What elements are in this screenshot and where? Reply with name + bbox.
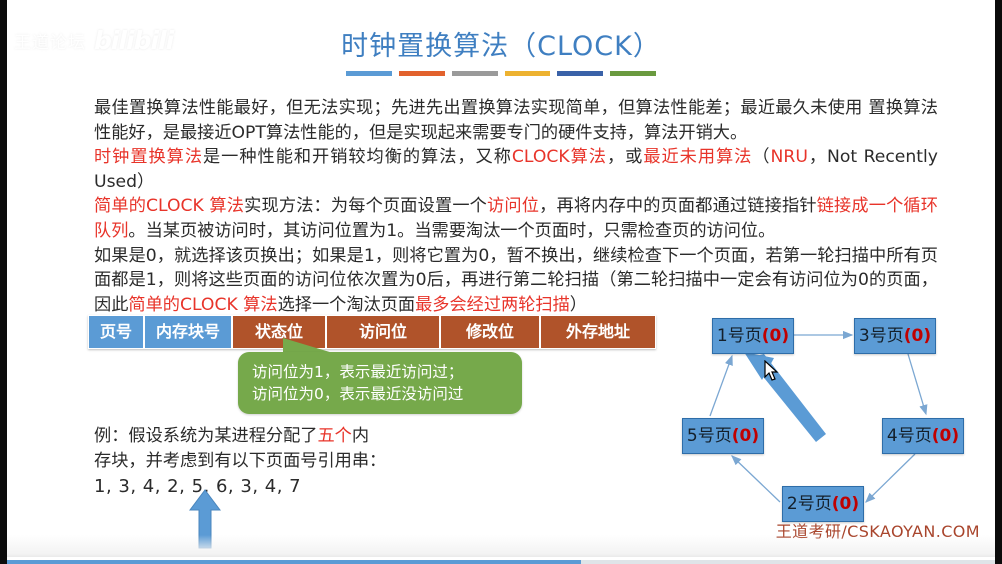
node-3-label: 3号页 [859,326,904,346]
paragraph-definition: 时钟置换算法是一种性能和开销较均衡的算法，又称CLOCK算法，或最近未用算法（N… [94,145,938,194]
node-5-access-bit: (0) [732,426,759,446]
rule-seg-4 [505,71,551,76]
queue-node-page2[interactable]: 2号页(0) [782,486,864,522]
term-nru-cn: 最近未用算法 [643,147,752,167]
circular-queue-diagram: 1号页(0) 3号页(0) 4号页(0) 2号页(0) 5号页(0) [660,306,1002,536]
term-simple-clock-1: 简单的CLOCK 算法 [94,196,244,216]
example-text-1: 例：假设系统为某进程分配了 [94,426,317,446]
link-3-to-4 [908,354,926,414]
example-line-1: 例：假设系统为某进程分配了五个内 [94,424,494,449]
term-simple-clock-2: 简单的CLOCK 算法 [128,295,277,315]
player-bar[interactable] [0,557,1002,564]
progress-track[interactable] [0,560,1002,564]
method-text-2: ，再将内存中的页面都通过链接指针 [539,196,817,216]
def-text-2: ，或 [607,147,643,167]
table-cell-page-number: 页号 [89,316,145,348]
method-text-1: 实现方法：为每个页面设置一个 [244,196,487,216]
table-cell-disk-address: 外存地址 [541,316,655,348]
scan-text-2: 选择一个淘汰页面 [278,295,416,315]
table-cell-access-bit: 访问位 [327,316,441,348]
body-text: 最佳置换算法性能最好，但无法实现；先进先出置换算法实现简单，但算法性能差；最近最… [94,96,938,317]
example-five-blocks: 五个 [317,426,351,446]
term-two-scans: 最多会经过两轮扫描 [415,295,570,315]
access-bit-callout: 访问位为1，表示最近访问过； 访问位为0，表示最近没访问过 [238,352,522,414]
def-text-1: 是一种性能和开销较均衡的算法，又称 [203,147,512,167]
slide-canvas: 王道论坛 bilibili 时钟置换算法（CLOCK） 最佳置换算法性能最好，但… [0,0,1002,564]
node-1-access-bit: (0) [762,326,789,346]
example-text-2: 内 [352,426,369,446]
rule-seg-1 [346,71,392,76]
node-2-label: 2号页 [787,494,832,514]
node-4-access-bit: (0) [932,426,959,446]
title-block: 时钟置换算法（CLOCK） [0,24,1002,76]
title-underline-rule [346,71,656,76]
intro-line-1: 最佳置换算法性能最好，但无法实现；先进先出置换算法实现简单，但算法性能差；最近最… [94,98,863,118]
term-clock-alias: CLOCK算法 [512,147,607,167]
paragraph-method: 简单的CLOCK 算法实现方法：为每个页面设置一个访问位，再将内存中的页面都通过… [94,194,938,243]
example-block: 例：假设系统为某进程分配了五个内 存块，并考虑到有以下页面号引用串： 1, 3,… [94,424,494,499]
letterbox-right [995,0,1002,564]
table-cell-frame-number: 内存块号 [145,316,233,348]
link-2-to-5 [732,456,780,502]
node-4-label: 4号页 [887,426,932,446]
term-access-bit: 访问位 [487,196,539,216]
progress-fill [0,560,581,564]
method-text-3: 。当某页被访问时，其访问位置为1。当需要淘汰一个页面时，只需检查页的访问位。 [128,221,775,241]
rule-seg-3 [452,71,498,76]
rule-seg-2 [399,71,445,76]
letterbox-left [0,0,7,564]
def-text-3: （ [752,147,770,167]
page-table-entry: 页号 内存块号 状态位 访问位 修改位 外存地址 [88,315,656,349]
bottom-fade [0,535,1002,557]
callout-line-2: 访问位为0，表示最近没访问过 [252,383,522,405]
link-4-to-2 [866,454,915,502]
paragraph-intro: 最佳置换算法性能最好，但无法实现；先进先出置换算法实现简单，但算法性能差；最近最… [94,96,938,145]
rule-seg-5 [557,71,603,76]
example-line-2: 存块，并考虑到有以下页面号引用串： [94,449,494,474]
term-nru-abbr: NRU [771,147,808,167]
table-cell-modify-bit: 修改位 [441,316,541,348]
queue-node-page4[interactable]: 4号页(0) [882,418,964,454]
node-2-access-bit: (0) [832,494,859,514]
queue-node-page5[interactable]: 5号页(0) [682,418,764,454]
callout-line-1: 访问位为1，表示最近访问过； [252,361,522,383]
queue-node-page1[interactable]: 1号页(0) [712,318,794,354]
queue-node-page3[interactable]: 3号页(0) [854,318,936,354]
reference-string: 1, 3, 4, 2, 5, 6, 3, 4, 7 [94,474,494,499]
page-title: 时钟置换算法（CLOCK） [0,24,1002,63]
scan-text-3: ） [570,295,587,315]
link-5-to-1 [710,356,732,416]
node-1-label: 1号页 [717,326,762,346]
term-clock-algorithm: 时钟置换算法 [94,147,203,167]
node-3-access-bit: (0) [904,326,931,346]
callout-text: 访问位为1，表示最近访问过； 访问位为0，表示最近没访问过 [238,352,522,405]
rule-seg-6 [610,71,656,76]
node-5-label: 5号页 [687,426,732,446]
mouse-cursor [764,360,780,382]
